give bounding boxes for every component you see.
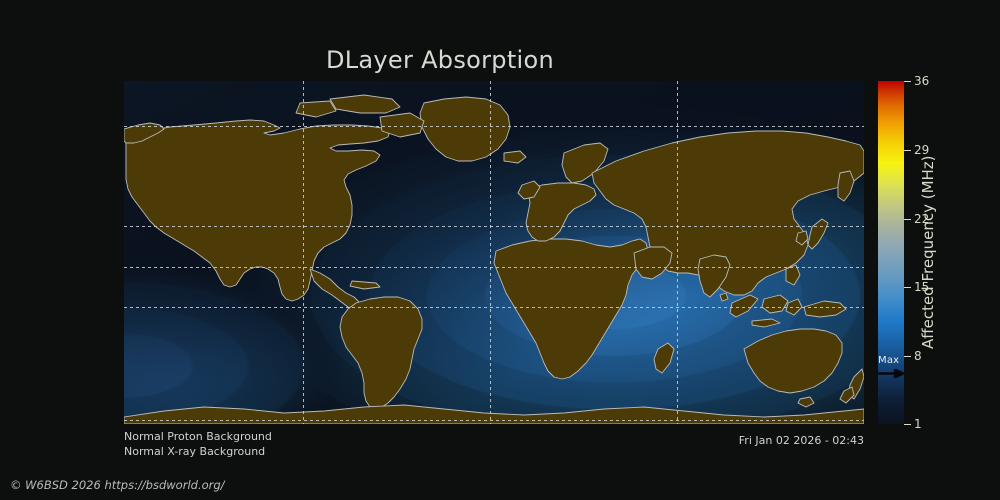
colorbar-title: Affected Frequency (MHz): [916, 81, 940, 424]
affected-frequency-colorbar[interactable]: 36 29 22 15 8 1 Max: [878, 81, 904, 424]
colorbar-tick-15: [904, 287, 911, 288]
status-notes: Normal Proton Background Normal X-ray Ba…: [124, 429, 272, 459]
timestamp: Fri Jan 02 2026 - 02:43: [590, 434, 864, 447]
page-title: DLayer Absorption: [0, 46, 880, 74]
max-marker-label: Max: [878, 356, 899, 366]
colorbar-tick-36: [904, 81, 911, 82]
dlayer-absorption-page: DLayer Absorption: [0, 0, 1000, 500]
world-map[interactable]: [124, 81, 864, 424]
colorbar-tick-1: [904, 424, 911, 425]
colorbar-max-marker: Max: [866, 356, 906, 382]
copyright-notice: © W6BSD 2026 https://bsdworld.org/: [10, 478, 225, 492]
max-arrow-icon: [878, 369, 904, 378]
map-canvas: [124, 81, 864, 424]
note-xray-background: Normal X-ray Background: [124, 444, 272, 459]
colorbar-tick-29: [904, 150, 911, 151]
note-proton-background: Normal Proton Background: [124, 429, 272, 444]
colorbar-tick-22: [904, 219, 911, 220]
land-sri-lanka: [720, 293, 728, 301]
map-clip: [124, 81, 864, 424]
